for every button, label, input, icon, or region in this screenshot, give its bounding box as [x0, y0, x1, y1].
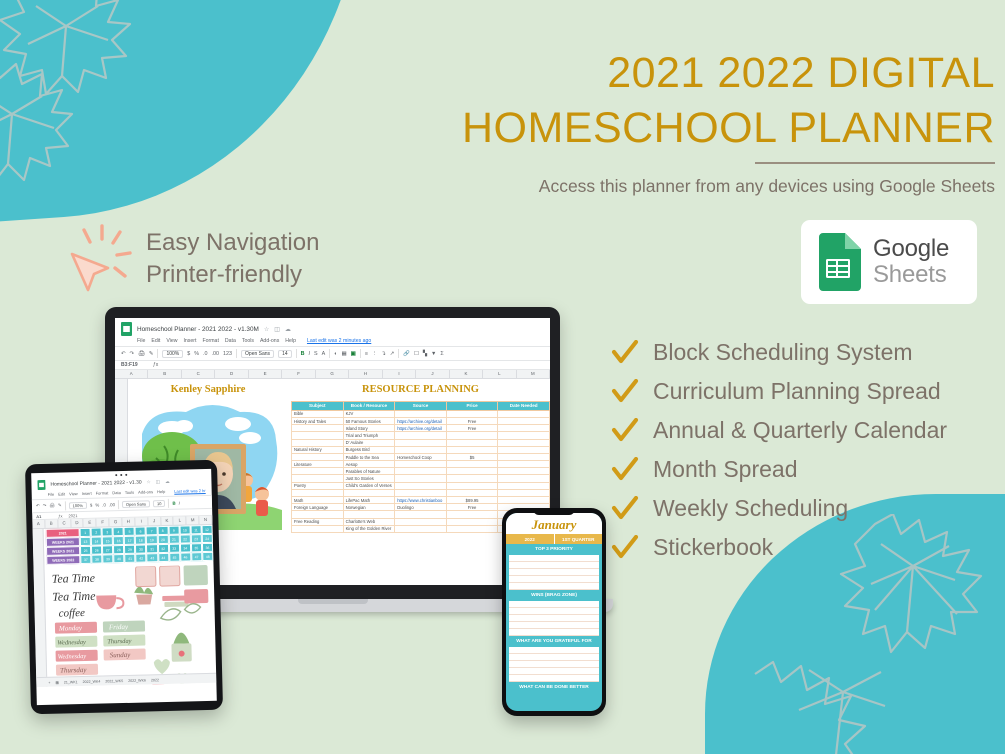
sheets-doc-icon — [37, 480, 45, 490]
sheet-tab[interactable]: 2022 — [151, 678, 159, 682]
cell-subject[interactable]: Natural History — [292, 446, 344, 453]
check-icon — [611, 457, 639, 483]
menu-item-tools[interactable]: Tools — [242, 338, 254, 344]
text-color-icon[interactable]: A — [322, 351, 326, 357]
menu-item-edit[interactable]: Edit — [151, 338, 160, 344]
feature-item: Block Scheduling System — [611, 333, 947, 372]
cell-book[interactable]: Just So Stories — [343, 475, 395, 482]
phone-quarter-bar: 2022 1ST QUARTER — [506, 534, 602, 544]
col-header[interactable]: G — [109, 518, 122, 526]
cell-subject[interactable] — [292, 432, 344, 439]
cell-price[interactable] — [446, 482, 498, 489]
table-row[interactable]: Trial and Triumph — [292, 432, 550, 439]
cell-price[interactable] — [446, 489, 498, 496]
sheets-doc-icon — [121, 322, 132, 336]
cell-subject[interactable] — [292, 525, 344, 532]
col-header[interactable]: L — [483, 370, 516, 378]
cell-price[interactable] — [446, 446, 498, 453]
table-row[interactable]: Island Story https://archive.org/detail … — [292, 425, 550, 432]
star-icon[interactable]: ☆ — [147, 479, 151, 485]
phone-quarter: 1ST QUARTER — [555, 534, 603, 544]
bold-icon[interactable]: B — [301, 351, 305, 357]
star-icon[interactable]: ☆ — [264, 326, 269, 333]
col-date-needed: Date Needed — [498, 402, 550, 411]
cell-book[interactable]: 50 Famous Stories — [343, 417, 395, 424]
title-underline — [755, 162, 995, 164]
undo-icon[interactable]: ↶ — [121, 351, 126, 357]
cloud-status-icon: ☁ — [285, 326, 291, 333]
google-sheets-label: Google Sheets — [873, 236, 949, 288]
menu-item-format[interactable]: Format — [202, 338, 218, 344]
tablet-camera — [115, 474, 127, 476]
cell-date[interactable] — [498, 410, 550, 417]
all-sheets-icon[interactable]: ▦ — [55, 680, 59, 684]
phone-section-header: WHAT CAN BE DONE BETTER — [506, 682, 602, 693]
tablet-doc-title: Homeschool Planner - 2021 2022 - v1.30 — [50, 480, 141, 488]
feature-item: Weekly Scheduling — [611, 489, 947, 528]
col-header[interactable]: M — [187, 516, 200, 524]
phone-section-lines[interactable] — [509, 647, 599, 682]
cell-price[interactable] — [446, 432, 498, 439]
header: 2021 2022 DIGITAL HOMESCHOOL PLANNER Acc… — [400, 46, 995, 197]
page-title-line1: 2021 2022 DIGITAL — [400, 46, 995, 101]
phone-year: 2022 — [506, 534, 555, 544]
laptop-base-notch — [298, 599, 368, 604]
last-edit-link[interactable]: Last edit was 2 minutes ago — [307, 338, 371, 344]
table-row[interactable]: Just So Stories — [292, 475, 550, 482]
cell-price[interactable]: Free — [446, 425, 498, 432]
check-icon — [611, 379, 639, 405]
insert-chart-icon[interactable]: ▚ — [423, 351, 427, 357]
feature-item: Annual & Quarterly Calendar — [611, 411, 947, 450]
print-icon[interactable]: 🖨 — [138, 351, 145, 357]
print-icon[interactable]: 🖨 — [49, 503, 55, 509]
cell-date[interactable] — [498, 497, 550, 504]
borders-icon[interactable]: ▦ — [342, 351, 347, 357]
decrease-decimal-icon[interactable]: .0 — [203, 351, 208, 357]
formula-fx-icon: ƒx — [153, 362, 158, 368]
zoom-level[interactable]: 100% — [69, 501, 87, 508]
text-rotation-icon[interactable]: ↗ — [390, 351, 395, 357]
col-book-resource: Book / Resource — [343, 402, 395, 411]
col-header[interactable]: G — [316, 370, 349, 378]
feature-item: Stickerbook — [611, 528, 947, 567]
tablet-screen: Homeschool Planner - 2021 2022 - v1.30 ☆… — [31, 469, 217, 705]
sheet-tab[interactable]: 2022_WK5 — [105, 679, 123, 683]
sticker-day-label: Wednesday — [57, 639, 86, 647]
cloud-status-icon: ☁ — [165, 479, 170, 485]
check-icon — [611, 340, 639, 366]
sticker-headline-3: coffee — [58, 607, 85, 620]
cell-source[interactable]: Homeschool Coop — [395, 453, 447, 460]
merge-cells-icon[interactable]: ▣ — [351, 351, 356, 357]
increase-decimal-icon[interactable]: .00 — [212, 351, 220, 357]
cell-book[interactable]: Charlotte's Web — [343, 518, 395, 525]
cell-subject[interactable] — [292, 453, 344, 460]
cell-source[interactable] — [395, 511, 447, 518]
cell-price[interactable] — [446, 461, 498, 468]
cell-price[interactable] — [446, 410, 498, 417]
menu-item-edit[interactable]: Edit — [58, 491, 65, 496]
phone-section-header: WINS (BRAG ZONE) — [506, 590, 602, 601]
italic-icon[interactable]: I — [309, 351, 311, 357]
col-header[interactable]: M — [517, 370, 550, 378]
cell-price[interactable] — [446, 511, 498, 518]
menu-item-insert[interactable]: Insert — [183, 338, 196, 344]
insert-link-icon[interactable]: 🔗 — [403, 351, 410, 357]
cell-date[interactable] — [498, 468, 550, 475]
phone-month-title: January — [506, 513, 602, 534]
col-header[interactable]: I — [135, 517, 148, 525]
cell-subject[interactable] — [292, 511, 344, 518]
menu-item-file[interactable]: File — [137, 338, 145, 344]
cell-date[interactable] — [498, 432, 550, 439]
cell-price[interactable]: $89.95 — [446, 497, 498, 504]
promo-graphic: 2021 2022 DIGITAL HOMESCHOOL PLANNER Acc… — [0, 0, 1005, 754]
col-header[interactable]: E — [84, 519, 97, 527]
col-header[interactable]: J — [416, 370, 449, 378]
cell-source[interactable] — [395, 489, 447, 496]
cell-date[interactable] — [498, 461, 550, 468]
cell-subject[interactable] — [292, 475, 344, 482]
cell-source[interactable] — [395, 461, 447, 468]
name-box[interactable]: A1 — [36, 513, 52, 518]
cell-price[interactable]: $5 — [446, 453, 498, 460]
col-header[interactable]: H — [349, 370, 382, 378]
table-row[interactable] — [292, 489, 550, 496]
cell-date[interactable] — [498, 475, 550, 482]
col-header[interactable]: C — [182, 370, 215, 378]
cell-price[interactable]: Free — [446, 417, 498, 424]
cell-source[interactable] — [395, 475, 447, 482]
col-header[interactable]: F — [97, 518, 110, 526]
badge-line1: Google — [873, 236, 949, 262]
paint-format-icon[interactable]: ✎ — [58, 503, 62, 509]
cell-price[interactable] — [446, 468, 498, 475]
cell-subject[interactable]: Math — [292, 497, 344, 504]
cell-price[interactable] — [446, 439, 498, 446]
col-header[interactable]: N — [199, 516, 212, 524]
table-row[interactable]: Paddle to the Sea Homeschool Coop $5 — [292, 453, 550, 460]
table-row[interactable]: Poetry Child's Garden of Verses — [292, 482, 550, 489]
insert-comment-icon[interactable]: ☐ — [414, 351, 419, 357]
menu-item-format[interactable]: Format — [96, 490, 109, 495]
currency-icon[interactable]: $ — [187, 351, 190, 357]
student-name: Kenley Sapphire — [128, 384, 288, 395]
sticker-day-label: Wednesday — [58, 653, 87, 661]
cell-subject[interactable] — [292, 439, 344, 446]
table-row[interactable]: Literature Aesop — [292, 461, 550, 468]
cell-source[interactable] — [395, 468, 447, 475]
easy-navigation-text: Easy Navigation Printer-friendly — [146, 227, 319, 290]
font-size[interactable]: 10 — [153, 499, 166, 506]
cell-price[interactable]: Free — [446, 504, 498, 511]
font-name[interactable]: Open Sans — [122, 500, 150, 508]
formula-fx-icon: ƒx — [58, 513, 62, 518]
col-header[interactable]: K — [161, 517, 174, 525]
cell-source[interactable]: Duolingo — [395, 504, 447, 511]
cell-source[interactable] — [395, 518, 447, 525]
phone-section-lines[interactable] — [509, 601, 599, 636]
col-subject: Subject — [292, 402, 344, 411]
feature-item: Curriculum Planning Spread — [611, 372, 947, 411]
google-sheets-icon — [815, 233, 861, 291]
cell-book[interactable]: Parables of Nature — [343, 468, 395, 475]
col-header[interactable]: D — [71, 519, 84, 527]
tablet-mockup: Homeschool Planner - 2021 2022 - v1.30 ☆… — [25, 460, 223, 715]
menu-item-addons[interactable]: Add-ons — [260, 338, 279, 344]
col-header[interactable]: K — [450, 370, 483, 378]
cell-source[interactable] — [395, 446, 447, 453]
google-sheets-badge: Google Sheets — [801, 220, 977, 304]
feature-label: Weekly Scheduling — [653, 495, 848, 522]
move-folder-icon[interactable]: ◫ — [156, 479, 160, 485]
feature-list: Block Scheduling System Curriculum Plann… — [611, 333, 947, 567]
col-header[interactable]: I — [383, 370, 416, 378]
italic-icon[interactable]: I — [179, 500, 180, 505]
cell-book[interactable]: LifePac Math — [343, 497, 395, 504]
col-header[interactable]: L — [174, 516, 187, 524]
feature-item: Month Spread — [611, 450, 947, 489]
easy-nav-line2: Printer-friendly — [146, 259, 319, 291]
col-header[interactable]: D — [215, 370, 248, 378]
sticker-day-label: Thursday — [60, 666, 88, 675]
week-row-label: WEEKS 2022 — [46, 555, 80, 565]
redo-icon[interactable]: ↷ — [43, 503, 47, 509]
functions-icon[interactable]: Σ — [440, 351, 443, 357]
cell-price[interactable] — [446, 518, 498, 525]
bold-icon[interactable]: B — [172, 500, 175, 505]
menu-item-help[interactable]: Help — [285, 338, 296, 344]
number-format-icon[interactable]: 123 — [223, 351, 232, 357]
zoom-level[interactable]: 100% — [162, 350, 183, 358]
cell-subject[interactable]: Poetry — [292, 482, 344, 489]
col-header[interactable]: J — [148, 517, 161, 525]
increase-decimal-icon[interactable]: .00 — [109, 502, 115, 507]
col-header[interactable]: C — [58, 519, 71, 527]
menu-item-addons[interactable]: Add-ons — [138, 489, 153, 494]
table-row[interactable]: Bible KJV — [292, 410, 550, 417]
percent-icon[interactable]: % — [194, 351, 199, 357]
sheets-titlebar: Homeschool Planner - 2021 2022 - v1.30M … — [115, 318, 550, 337]
cell-price[interactable] — [446, 475, 498, 482]
page-title-line2: HOMESCHOOL PLANNER — [400, 101, 995, 156]
sheet-tab[interactable]: 21_WK1 — [64, 680, 78, 684]
phone-mockup: January 2022 1ST QUARTER TOP 3 PRIORITY … — [502, 508, 606, 716]
text-wrap-icon[interactable]: ↴ — [381, 351, 386, 357]
last-edit-link[interactable]: Last edit was 2 hr — [174, 488, 205, 494]
cell-subject[interactable]: Free Reading — [292, 518, 344, 525]
sticker-day-label: Thursday — [107, 638, 131, 646]
fill-color-icon[interactable]: ◐ — [334, 351, 337, 357]
paint-format-icon[interactable]: ✎ — [149, 351, 154, 357]
table-header-row: Subject Book / Resource Source Price Dat… — [292, 402, 550, 411]
sticker-headline-2: Tea Time — [52, 589, 96, 604]
menu-item-help[interactable]: Help — [157, 489, 165, 494]
decrease-decimal-icon[interactable]: .0 — [102, 502, 106, 507]
cell-price[interactable] — [446, 525, 498, 532]
cell-book[interactable]: Trial and Triumph — [343, 432, 395, 439]
phone-notch — [533, 508, 575, 515]
col-price: Price — [446, 402, 498, 411]
cell-subject[interactable] — [292, 489, 344, 496]
table-row[interactable]: Parables of Nature — [292, 468, 550, 475]
sticker-day-label: Monday — [58, 624, 83, 633]
cell-book[interactable]: Island Story — [343, 425, 395, 432]
col-header[interactable]: A — [115, 370, 148, 378]
cell-source[interactable] — [395, 410, 447, 417]
col-header[interactable]: B — [45, 520, 58, 528]
sheet-tab[interactable]: 2022_WK4 — [83, 679, 101, 683]
cell-date[interactable] — [498, 482, 550, 489]
cell-date[interactable] — [498, 453, 550, 460]
cell-book[interactable]: Burgess Bird — [343, 446, 395, 453]
check-icon — [611, 418, 639, 444]
cell-book[interactable]: Aesop — [343, 461, 395, 468]
menu-item-insert[interactable]: Insert — [82, 491, 92, 496]
cell-date[interactable] — [498, 439, 550, 446]
font-size[interactable]: 14 — [278, 350, 292, 358]
cell-subject[interactable]: Bible — [292, 410, 344, 417]
cell-book[interactable] — [343, 511, 395, 518]
week-grid: 2021 1234 5678 9101112 WEEKS 2021 131415… — [46, 525, 214, 565]
formula-value[interactable]: 2021 — [68, 513, 77, 518]
col-header[interactable]: A — [32, 520, 45, 528]
cell-source[interactable] — [395, 525, 447, 532]
menu-item-data[interactable]: Data — [112, 490, 121, 495]
horizontal-align-icon[interactable]: ≡ — [365, 351, 368, 357]
cell-source[interactable] — [395, 482, 447, 489]
menu-item-data[interactable]: Data — [225, 338, 236, 344]
name-box[interactable]: B3:F19 — [121, 362, 147, 368]
sticker-day-label: Friday — [108, 623, 129, 632]
move-folder-icon[interactable]: ◫ — [274, 326, 280, 333]
menu-item-file[interactable]: File — [48, 492, 55, 497]
stickerbook-svg: Tea Time Tea Time coffee — [48, 565, 217, 687]
cell-book[interactable] — [343, 489, 395, 496]
col-header[interactable]: B — [148, 370, 181, 378]
cell-subject[interactable]: History and Tales — [292, 417, 344, 424]
phone-section-lines[interactable] — [509, 555, 599, 590]
font-name[interactable]: Open Sans — [241, 350, 274, 358]
cell-book[interactable]: Child's Garden of Verses — [343, 482, 395, 489]
feature-label: Stickerbook — [653, 534, 773, 561]
cell-book[interactable]: D' Aulaire — [343, 439, 395, 446]
cell-book[interactable]: Norwegian — [343, 504, 395, 511]
cell-date[interactable] — [498, 425, 550, 432]
cell-book[interactable]: KJV — [343, 410, 395, 417]
table-row[interactable]: D' Aulaire — [292, 439, 550, 446]
check-icon — [611, 496, 639, 522]
feature-label: Block Scheduling System — [653, 339, 913, 366]
cell-subject[interactable]: Foreign Language — [292, 504, 344, 511]
col-header[interactable]: F — [282, 370, 315, 378]
sticker-day-label: Sunday — [110, 651, 132, 660]
cell-book[interactable]: King of the Golden River — [343, 525, 395, 532]
feature-label: Curriculum Planning Spread — [653, 378, 941, 405]
col-header[interactable]: E — [249, 370, 282, 378]
col-header[interactable]: H — [122, 518, 135, 526]
strikethrough-icon[interactable]: S — [314, 351, 318, 357]
currency-icon[interactable]: $ — [90, 502, 93, 507]
table-row[interactable]: Natural History Burgess Bird — [292, 446, 550, 453]
page-subtitle: Access this planner from any devices usi… — [400, 176, 995, 197]
phone-section-header: WHAT ARE YOU GRATEFUL FOR — [506, 636, 602, 647]
sheet-tab[interactable]: 2022_WK6 — [128, 678, 146, 682]
redo-icon[interactable]: ↷ — [130, 351, 135, 357]
add-sheet-icon[interactable]: + — [48, 680, 50, 684]
sheets-formula-bar: B3:F19 ƒx — [115, 361, 550, 370]
menu-item-view[interactable]: View — [166, 338, 177, 344]
cell-source[interactable] — [395, 439, 447, 446]
column-headers: A B C D E F G H I J K L M — [115, 370, 550, 379]
col-source: Source — [395, 402, 447, 411]
undo-icon[interactable]: ↶ — [36, 503, 40, 509]
cell-date[interactable] — [498, 417, 550, 424]
easy-navigation-callout: Easy Navigation Printer-friendly — [68, 222, 319, 296]
cell-date[interactable] — [498, 489, 550, 496]
cell-book[interactable]: Paddle to the Sea — [343, 453, 395, 460]
check-icon — [611, 535, 639, 561]
laptop-doc-title: Homeschool Planner - 2021 2022 - v1.30M — [137, 326, 259, 333]
badge-line2: Sheets — [873, 262, 949, 288]
menu-item-view[interactable]: View — [69, 491, 78, 496]
tablet-sheet-content: 2021 1234 5678 9101112 WEEKS 2021 131415… — [33, 525, 217, 687]
table-row[interactable]: History and Tales 50 Famous Stories http… — [292, 417, 550, 424]
cell-subject[interactable]: Literature — [292, 461, 344, 468]
cell-source[interactable]: https://www.christianboo — [395, 497, 447, 504]
vertical-align-icon[interactable]: ⋮ — [372, 351, 377, 357]
menu-item-tools[interactable]: Tools — [125, 490, 134, 495]
sticker-headline-1: Tea Time — [52, 571, 96, 586]
cell-source[interactable]: https://archive.org/detail — [395, 417, 447, 424]
percent-icon[interactable]: % — [95, 502, 99, 507]
phone-screen: January 2022 1ST QUARTER TOP 3 PRIORITY … — [506, 513, 602, 711]
sheets-menubar: File Edit View Insert Format Data Tools … — [115, 337, 550, 346]
stickerbook-area: Tea Time Tea Time coffee — [48, 565, 217, 687]
phone-section-header: TOP 3 PRIORITY — [506, 544, 602, 555]
filter-icon[interactable]: ▼ — [431, 351, 436, 357]
cell-subject[interactable] — [292, 425, 344, 432]
feature-label: Annual & Quarterly Calendar — [653, 417, 947, 444]
cell-date[interactable] — [498, 446, 550, 453]
feature-label: Month Spread — [653, 456, 797, 483]
background-teal-curve-top — [0, 0, 386, 224]
cell-source[interactable] — [395, 432, 447, 439]
table-row[interactable]: Math LifePac Math https://www.christianb… — [292, 497, 550, 504]
cell-subject[interactable] — [292, 468, 344, 475]
easy-nav-line1: Easy Navigation — [146, 227, 319, 259]
sheets-toolbar: ↶ ↷ 🖨 ✎ 100% $ % .0 .00 123 Open Sans 14… — [115, 346, 550, 361]
click-cursor-icon — [68, 222, 136, 296]
section-title: RESOURCE PLANNING — [291, 384, 550, 395]
cell-source[interactable]: https://archive.org/detail — [395, 425, 447, 432]
